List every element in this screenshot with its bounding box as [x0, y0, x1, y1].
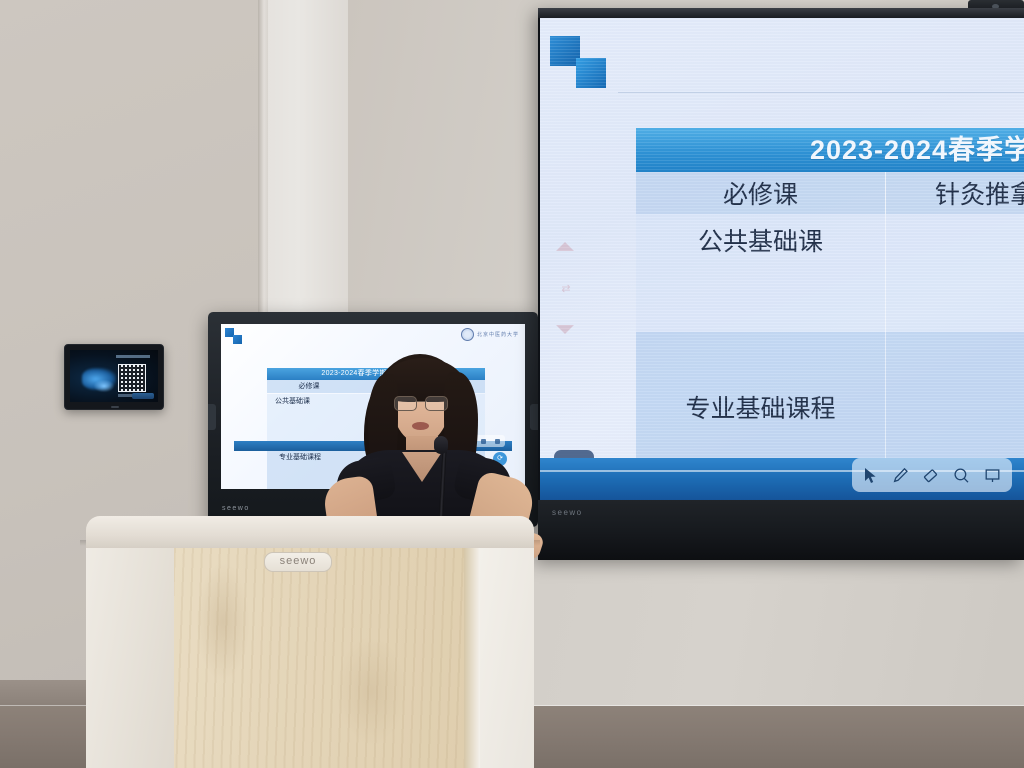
screen-tool-icon[interactable] — [984, 467, 1001, 484]
university-logo: 北京中医药大学 — [461, 328, 519, 341]
lectern: seewo — [86, 516, 534, 768]
tablet-sensor-icon — [111, 406, 119, 408]
eraser-tool-icon[interactable] — [922, 467, 939, 484]
slide-decor-square-two-icon — [576, 58, 606, 88]
slide-divider — [618, 92, 1024, 93]
lectern-top-surface — [86, 516, 534, 548]
smart-board-brand: seewo — [222, 505, 250, 512]
table-cell-required-label: 必修课 — [636, 172, 886, 214]
large-display[interactable]: ⇄ 2023-2024春季学期 必修课 针灸推拿 公共基础课 专业基础课程 — [538, 8, 1024, 560]
board-slide-basic-label: 公共基础课 — [275, 396, 310, 406]
zoom-tool-icon[interactable] — [953, 467, 970, 484]
lectern-wood-grain-one — [196, 562, 250, 682]
lectern-left-panel — [86, 542, 176, 768]
table-cell-public-basic-value — [886, 214, 1024, 332]
presenter — [316, 352, 530, 542]
qr-code-icon — [118, 364, 146, 392]
nav-swap-icon[interactable]: ⇄ — [561, 282, 568, 295]
table-cell-public-basic-label: 公共基础课 — [636, 214, 886, 332]
nav-up-icon[interactable] — [556, 242, 574, 251]
tablet-heading-line — [116, 355, 150, 358]
display-bottom-bezel: seewo — [538, 500, 1024, 560]
display-top-bezel — [538, 8, 1024, 18]
glasses-icon — [394, 396, 448, 409]
table-row: 必修课 针灸推拿 — [636, 172, 1024, 214]
lectern-right-edge — [464, 546, 480, 768]
table-cell-required-value: 针灸推拿 — [886, 172, 1024, 214]
board-right-button[interactable] — [530, 404, 538, 430]
slide-side-nav[interactable]: ⇄ — [552, 242, 578, 334]
cursor-tool-icon[interactable] — [863, 467, 878, 484]
board-slide-professional-label: 专业基础课程 — [279, 452, 321, 462]
board-left-button[interactable] — [208, 404, 216, 430]
wall-tablet-screen[interactable] — [70, 350, 158, 402]
slide-table: 2023-2024春季学期 必修课 针灸推拿 公共基础课 专业基础课程 — [636, 128, 1024, 482]
pen-tool-icon[interactable] — [892, 467, 909, 484]
lecture-room-photo: 北京中医药大学 2023-2024春季学期细化课程科目 必修课 针灸推拿 · 中… — [0, 0, 1024, 768]
table-row: 公共基础课 — [636, 214, 1024, 332]
slide-table-title: 2023-2024春季学期 — [636, 128, 1024, 172]
university-logo-text: 北京中医药大学 — [477, 331, 519, 338]
lectern-brand-badge: seewo — [264, 552, 332, 572]
tablet-graphic-highlight-icon — [94, 380, 114, 392]
lectern-right-panel — [480, 542, 534, 768]
wall-tablet[interactable] — [64, 344, 164, 410]
large-display-screen[interactable]: ⇄ 2023-2024春季学期 必修课 针灸推拿 公共基础课 专业基础课程 — [540, 18, 1024, 500]
university-seal-icon — [461, 328, 474, 341]
nav-down-icon[interactable] — [556, 325, 574, 334]
tablet-action-button[interactable] — [132, 393, 154, 399]
slide-corner-square-two-icon — [233, 335, 242, 344]
lectern-wood-grain-two — [336, 636, 406, 746]
presenter-mouth — [412, 422, 429, 430]
display-brand: seewo — [552, 508, 583, 517]
microphone-icon — [434, 436, 448, 454]
display-toolbar[interactable] — [852, 458, 1012, 492]
